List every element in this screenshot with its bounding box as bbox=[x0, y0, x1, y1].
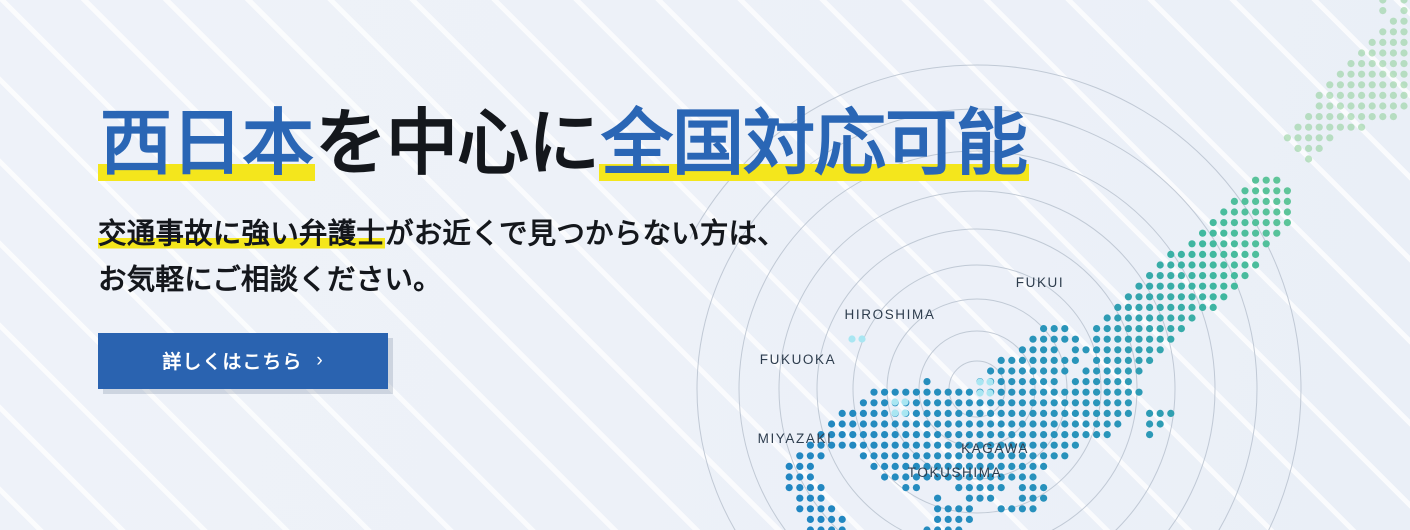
map-dot bbox=[1019, 463, 1026, 470]
map-dot bbox=[966, 516, 973, 523]
map-dot bbox=[1231, 230, 1238, 237]
map-dot bbox=[1178, 251, 1185, 258]
map-dot bbox=[1188, 304, 1195, 311]
map-dot bbox=[892, 452, 899, 459]
map-dot bbox=[966, 410, 973, 417]
map-dot bbox=[796, 484, 803, 491]
map-dot bbox=[902, 442, 909, 449]
map-dot bbox=[1178, 261, 1185, 268]
map-dot bbox=[1241, 230, 1248, 237]
map-dot bbox=[1326, 92, 1333, 99]
map-dot bbox=[1125, 336, 1132, 343]
map-dot bbox=[1157, 420, 1164, 427]
map-dot bbox=[934, 505, 941, 512]
map-dot bbox=[945, 420, 952, 427]
map-dot bbox=[1326, 134, 1333, 141]
subtitle-highlight: 交通事故に強い弁護士 bbox=[98, 218, 385, 250]
map-dot bbox=[1114, 378, 1121, 385]
hero-banner: FUKUIHIROSHIMAFUKUOKAMIYAZAKIKAGAWATOKUS… bbox=[0, 0, 1410, 530]
map-dot bbox=[860, 420, 867, 427]
map-label-tokushima: TOKUSHIMA bbox=[908, 465, 1002, 480]
map-dot bbox=[892, 473, 899, 480]
map-dot bbox=[1188, 251, 1195, 258]
page-title: 西日本を中心に全国対応可能 bbox=[98, 104, 1108, 185]
map-dot bbox=[1135, 346, 1142, 353]
map-dot bbox=[1273, 208, 1280, 215]
map-dot bbox=[913, 389, 920, 396]
map-dot bbox=[955, 389, 962, 396]
map-dot bbox=[1146, 304, 1153, 311]
map-dot bbox=[998, 389, 1005, 396]
map-dot bbox=[796, 473, 803, 480]
map-dot bbox=[1008, 431, 1015, 438]
map-dot bbox=[860, 399, 867, 406]
map-dot bbox=[1273, 177, 1280, 184]
map-dot bbox=[1390, 92, 1397, 99]
map-dot bbox=[892, 463, 899, 470]
map-dot bbox=[1294, 134, 1301, 141]
map-dot bbox=[1199, 293, 1206, 300]
map-dot bbox=[1029, 484, 1036, 491]
map-dot bbox=[1316, 124, 1323, 131]
map-dot bbox=[1114, 420, 1121, 427]
map-dot bbox=[1135, 367, 1142, 374]
map-dot bbox=[1019, 484, 1026, 491]
map-dot bbox=[839, 431, 846, 438]
map-dot bbox=[1337, 113, 1344, 120]
map-dot bbox=[807, 463, 814, 470]
map-dot bbox=[1040, 410, 1047, 417]
map-dot bbox=[1072, 442, 1079, 449]
map-dot bbox=[976, 431, 983, 438]
map-dot bbox=[1019, 495, 1026, 502]
map-dot bbox=[923, 442, 930, 449]
map-dot bbox=[1263, 198, 1270, 205]
map-dot bbox=[1220, 283, 1227, 290]
map-dot bbox=[1358, 49, 1365, 56]
map-dot bbox=[839, 420, 846, 427]
map-dot bbox=[1379, 71, 1386, 78]
map-dot bbox=[1146, 283, 1153, 290]
map-dot bbox=[1379, 113, 1386, 120]
map-dot bbox=[1125, 314, 1132, 321]
map-dot bbox=[1135, 283, 1142, 290]
map-dot bbox=[1263, 177, 1270, 184]
map-dot bbox=[1400, 92, 1407, 99]
map-dot bbox=[1379, 60, 1386, 67]
map-dot bbox=[1220, 219, 1227, 226]
map-dot bbox=[1104, 410, 1111, 417]
map-dot bbox=[1167, 325, 1174, 332]
map-dot bbox=[955, 431, 962, 438]
map-dot bbox=[976, 495, 983, 502]
map-dot bbox=[955, 516, 962, 523]
map-dot bbox=[1337, 71, 1344, 78]
map-dot bbox=[1305, 134, 1312, 141]
map-dot bbox=[1125, 357, 1132, 364]
map-dot bbox=[881, 410, 888, 417]
map-dot bbox=[807, 495, 814, 502]
map-dot bbox=[902, 452, 909, 459]
map-dot bbox=[1114, 304, 1121, 311]
map-dot bbox=[786, 484, 793, 491]
map-dot bbox=[966, 420, 973, 427]
map-dot bbox=[1390, 18, 1397, 25]
map-dot bbox=[976, 399, 983, 406]
map-dot bbox=[839, 442, 846, 449]
map-dot bbox=[1040, 463, 1047, 470]
map-dot bbox=[849, 442, 856, 449]
map-dot bbox=[828, 516, 835, 523]
map-dot bbox=[1326, 81, 1333, 88]
map-dot bbox=[1241, 219, 1248, 226]
map-dot bbox=[881, 463, 888, 470]
map-dot bbox=[881, 452, 888, 459]
map-dot bbox=[987, 431, 994, 438]
map-dot bbox=[1231, 283, 1238, 290]
map-dot bbox=[870, 463, 877, 470]
map-dot bbox=[934, 495, 941, 502]
map-dot bbox=[796, 452, 803, 459]
map-dot bbox=[1231, 261, 1238, 268]
map-dot bbox=[1231, 251, 1238, 258]
map-dot-highlight bbox=[891, 398, 898, 405]
map-dot bbox=[1040, 495, 1047, 502]
map-dot-highlight bbox=[891, 409, 898, 416]
map-dot bbox=[1188, 240, 1195, 247]
map-dot bbox=[1284, 134, 1291, 141]
subtitle-rest: がお近くで見つからない方は、 bbox=[385, 218, 786, 250]
map-dot bbox=[923, 526, 930, 530]
map-dot bbox=[1326, 124, 1333, 131]
details-button-label: 詳しくはこちら bbox=[162, 347, 302, 374]
map-dot bbox=[923, 399, 930, 406]
map-dot bbox=[1135, 336, 1142, 343]
map-dot bbox=[1146, 325, 1153, 332]
map-dot bbox=[1114, 389, 1121, 396]
map-dot bbox=[945, 452, 952, 459]
map-dot bbox=[1072, 399, 1079, 406]
map-dot bbox=[807, 516, 814, 523]
map-dot bbox=[1284, 198, 1291, 205]
map-dot bbox=[1241, 240, 1248, 247]
map-dot bbox=[1072, 420, 1079, 427]
map-dot bbox=[1029, 505, 1036, 512]
map-dot-highlight bbox=[986, 389, 993, 396]
map-dot bbox=[849, 420, 856, 427]
map-dot bbox=[1146, 346, 1153, 353]
map-dot bbox=[902, 420, 909, 427]
map-dot bbox=[1305, 113, 1312, 120]
map-dot bbox=[817, 505, 824, 512]
map-dot bbox=[913, 452, 920, 459]
map-dot bbox=[1379, 92, 1386, 99]
map-dot bbox=[998, 431, 1005, 438]
map-dot bbox=[1326, 102, 1333, 109]
map-dot bbox=[955, 410, 962, 417]
map-dot-highlight bbox=[901, 398, 908, 405]
map-dot bbox=[870, 431, 877, 438]
map-dot bbox=[934, 410, 941, 417]
map-dot bbox=[1093, 399, 1100, 406]
map-dot bbox=[1082, 389, 1089, 396]
map-dot bbox=[1379, 81, 1386, 88]
map-dot bbox=[987, 399, 994, 406]
map-dot bbox=[839, 516, 846, 523]
map-dot bbox=[1082, 431, 1089, 438]
map-dot bbox=[1400, 60, 1407, 67]
map-dot bbox=[1369, 39, 1376, 46]
map-dot bbox=[1379, 49, 1386, 56]
map-dot bbox=[1273, 219, 1280, 226]
map-dot bbox=[1008, 399, 1015, 406]
map-dot bbox=[1008, 420, 1015, 427]
map-dot bbox=[881, 431, 888, 438]
map-dot bbox=[934, 442, 941, 449]
map-dot bbox=[1220, 208, 1227, 215]
map-dot bbox=[955, 399, 962, 406]
map-dot bbox=[1316, 102, 1323, 109]
map-dot bbox=[1008, 410, 1015, 417]
map-dot bbox=[966, 431, 973, 438]
map-dot bbox=[1241, 208, 1248, 215]
map-dot bbox=[1337, 92, 1344, 99]
map-dot bbox=[870, 442, 877, 449]
map-dot bbox=[807, 484, 814, 491]
map-dot bbox=[1167, 272, 1174, 279]
map-dot bbox=[1220, 230, 1227, 237]
map-dot bbox=[849, 410, 856, 417]
chevron-right-icon: › bbox=[316, 350, 323, 372]
map-dot bbox=[1051, 452, 1058, 459]
map-dot bbox=[1040, 420, 1047, 427]
map-dot bbox=[1178, 325, 1185, 332]
map-dot bbox=[1390, 71, 1397, 78]
headline-part-1: 西日本 bbox=[98, 104, 315, 185]
map-dot bbox=[1051, 420, 1058, 427]
map-dot bbox=[1135, 304, 1142, 311]
map-dot bbox=[1358, 92, 1365, 99]
map-dot bbox=[913, 442, 920, 449]
map-dot bbox=[870, 410, 877, 417]
map-dot bbox=[1305, 124, 1312, 131]
map-dot bbox=[1369, 102, 1376, 109]
map-dot bbox=[1029, 410, 1036, 417]
map-dot bbox=[976, 410, 983, 417]
map-dot bbox=[817, 484, 824, 491]
map-dot bbox=[1061, 399, 1068, 406]
map-dot bbox=[955, 526, 962, 530]
map-dot bbox=[1326, 113, 1333, 120]
map-dot bbox=[786, 463, 793, 470]
map-dot bbox=[1358, 60, 1365, 67]
map-dot bbox=[1347, 81, 1354, 88]
map-dot bbox=[1104, 420, 1111, 427]
map-dot bbox=[976, 484, 983, 491]
map-dot bbox=[1029, 452, 1036, 459]
map-dot bbox=[1390, 28, 1397, 35]
map-dot bbox=[1114, 399, 1121, 406]
map-dot bbox=[1114, 346, 1121, 353]
map-dot bbox=[1199, 230, 1206, 237]
map-dot bbox=[1400, 49, 1407, 56]
map-dot bbox=[1167, 283, 1174, 290]
hero-copy: 西日本を中心に全国対応可能 交通事故に強い弁護士がお近くで見つからない方は、 お… bbox=[98, 104, 1108, 389]
map-dot bbox=[1008, 389, 1015, 396]
map-dot bbox=[1178, 272, 1185, 279]
map-dot bbox=[1157, 283, 1164, 290]
map-dot bbox=[934, 389, 941, 396]
map-dot bbox=[1167, 251, 1174, 258]
map-dot bbox=[1178, 304, 1185, 311]
map-dot bbox=[945, 431, 952, 438]
map-dot bbox=[1188, 261, 1195, 268]
map-dot bbox=[1167, 261, 1174, 268]
map-dot bbox=[881, 389, 888, 396]
map-dot bbox=[987, 420, 994, 427]
map-dot bbox=[1146, 431, 1153, 438]
map-dot bbox=[934, 516, 941, 523]
map-dot bbox=[1125, 325, 1132, 332]
map-dot bbox=[1008, 505, 1015, 512]
map-dot bbox=[1199, 240, 1206, 247]
map-dot bbox=[1125, 399, 1132, 406]
map-dot bbox=[1231, 240, 1238, 247]
map-dot bbox=[1369, 60, 1376, 67]
map-dot bbox=[1210, 230, 1217, 237]
map-dot bbox=[1051, 399, 1058, 406]
map-dot bbox=[945, 526, 952, 530]
map-dot bbox=[1008, 463, 1015, 470]
map-dot bbox=[860, 452, 867, 459]
map-dot bbox=[1019, 473, 1026, 480]
map-dot bbox=[1167, 336, 1174, 343]
map-dot bbox=[1252, 251, 1259, 258]
map-dot bbox=[1029, 389, 1036, 396]
map-dot bbox=[870, 420, 877, 427]
map-dot bbox=[1146, 420, 1153, 427]
map-dot bbox=[1040, 484, 1047, 491]
map-dot bbox=[1400, 39, 1407, 46]
map-dot bbox=[1199, 272, 1206, 279]
map-dot bbox=[881, 420, 888, 427]
map-dot bbox=[1263, 187, 1270, 194]
map-dot bbox=[1316, 145, 1323, 152]
map-dot bbox=[1029, 442, 1036, 449]
map-dot bbox=[1114, 357, 1121, 364]
map-dot bbox=[1210, 261, 1217, 268]
map-dot bbox=[1040, 399, 1047, 406]
map-dot bbox=[1210, 240, 1217, 247]
map-dot bbox=[1273, 198, 1280, 205]
map-dot bbox=[1104, 431, 1111, 438]
map-dot bbox=[860, 431, 867, 438]
map-dot bbox=[1231, 272, 1238, 279]
map-dot bbox=[1400, 0, 1407, 4]
map-dot bbox=[1369, 49, 1376, 56]
map-dot bbox=[1263, 240, 1270, 247]
map-dot bbox=[1135, 325, 1142, 332]
map-dot bbox=[881, 399, 888, 406]
map-dot bbox=[934, 526, 941, 530]
map-dot bbox=[1199, 251, 1206, 258]
map-dot bbox=[881, 473, 888, 480]
map-dot bbox=[1284, 208, 1291, 215]
map-dot bbox=[1146, 410, 1153, 417]
map-dot bbox=[923, 389, 930, 396]
map-dot bbox=[1379, 102, 1386, 109]
map-dot bbox=[1135, 357, 1142, 364]
map-dot bbox=[1135, 389, 1142, 396]
details-button[interactable]: 詳しくはこちら › bbox=[98, 333, 388, 389]
map-dot bbox=[1284, 187, 1291, 194]
map-dot bbox=[1135, 314, 1142, 321]
map-dot bbox=[1199, 261, 1206, 268]
map-dot bbox=[1061, 431, 1068, 438]
map-dot bbox=[839, 526, 846, 530]
map-dot bbox=[945, 399, 952, 406]
map-dot bbox=[1157, 314, 1164, 321]
map-dot bbox=[1029, 495, 1036, 502]
map-dot bbox=[1220, 251, 1227, 258]
map-dot bbox=[998, 420, 1005, 427]
map-dot bbox=[1252, 261, 1259, 268]
map-dot bbox=[817, 516, 824, 523]
map-dot bbox=[1114, 325, 1121, 332]
map-dot bbox=[945, 516, 952, 523]
map-dot bbox=[1241, 198, 1248, 205]
map-dot bbox=[1125, 389, 1132, 396]
map-dot bbox=[902, 389, 909, 396]
map-dot bbox=[1167, 304, 1174, 311]
map-dot bbox=[1379, 39, 1386, 46]
map-dot-highlight bbox=[901, 409, 908, 416]
map-dot bbox=[817, 452, 824, 459]
map-dot bbox=[1188, 283, 1195, 290]
map-dot bbox=[1358, 102, 1365, 109]
map-dot bbox=[1093, 420, 1100, 427]
map-dot bbox=[1061, 420, 1068, 427]
map-dot bbox=[913, 399, 920, 406]
map-dot bbox=[1157, 325, 1164, 332]
map-dot bbox=[1072, 410, 1079, 417]
map-dot bbox=[1114, 410, 1121, 417]
map-dot bbox=[1358, 113, 1365, 120]
map-dot bbox=[1051, 410, 1058, 417]
map-dot bbox=[934, 431, 941, 438]
map-dot bbox=[870, 389, 877, 396]
map-dot bbox=[892, 420, 899, 427]
map-dot bbox=[1347, 60, 1354, 67]
map-dot bbox=[966, 484, 973, 491]
map-dot bbox=[1019, 505, 1026, 512]
map-dot bbox=[1104, 399, 1111, 406]
headline-part-2: を中心に bbox=[315, 104, 599, 184]
map-dot bbox=[1146, 272, 1153, 279]
map-dot bbox=[966, 399, 973, 406]
map-dot bbox=[1241, 251, 1248, 258]
map-dot bbox=[1210, 283, 1217, 290]
map-dot bbox=[1305, 145, 1312, 152]
map-dot bbox=[1400, 71, 1407, 78]
map-dot bbox=[1093, 431, 1100, 438]
hero-subtitle: 交通事故に強い弁護士がお近くで見つからない方は、 お気軽にご相談ください。 bbox=[98, 211, 1108, 303]
map-dot bbox=[1220, 272, 1227, 279]
map-dot bbox=[1029, 431, 1036, 438]
map-dot bbox=[923, 431, 930, 438]
map-dot bbox=[1125, 304, 1132, 311]
map-dot bbox=[1252, 198, 1259, 205]
